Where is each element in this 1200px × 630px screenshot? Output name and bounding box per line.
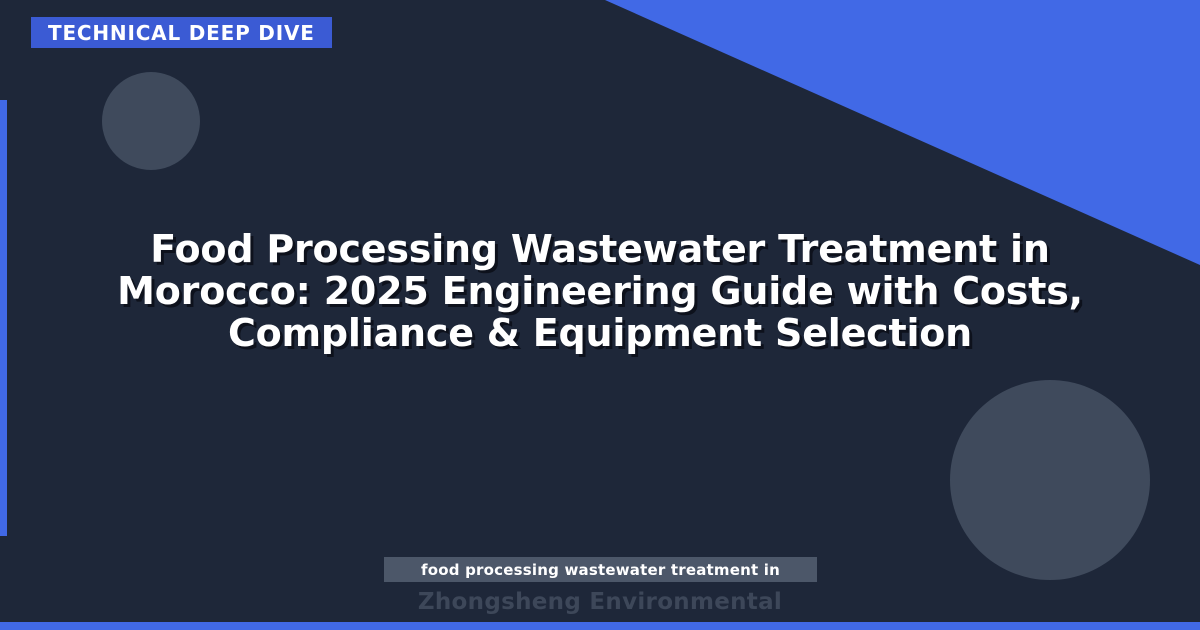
decorative-circle-top-left <box>102 72 200 170</box>
bottom-accent-bar <box>0 622 1200 630</box>
eyebrow-badge: TECHNICAL DEEP DIVE <box>31 17 332 48</box>
brand-name: Zhongsheng Environmental <box>0 589 1200 615</box>
keyword-chip: food processing wastewater treatment in <box>384 557 817 582</box>
page-title: Food Processing Wastewater Treatment in … <box>60 228 1140 354</box>
title-line-3: Compliance & Equipment Selection <box>60 312 1140 354</box>
title-line-1: Food Processing Wastewater Treatment in <box>60 228 1140 270</box>
social-card: TECHNICAL DEEP DIVE Food Processing Wast… <box>0 0 1200 630</box>
left-accent-bar <box>0 100 7 536</box>
title-line-2: Morocco: 2025 Engineering Guide with Cos… <box>60 270 1140 312</box>
decorative-circle-bottom-right <box>950 380 1150 580</box>
